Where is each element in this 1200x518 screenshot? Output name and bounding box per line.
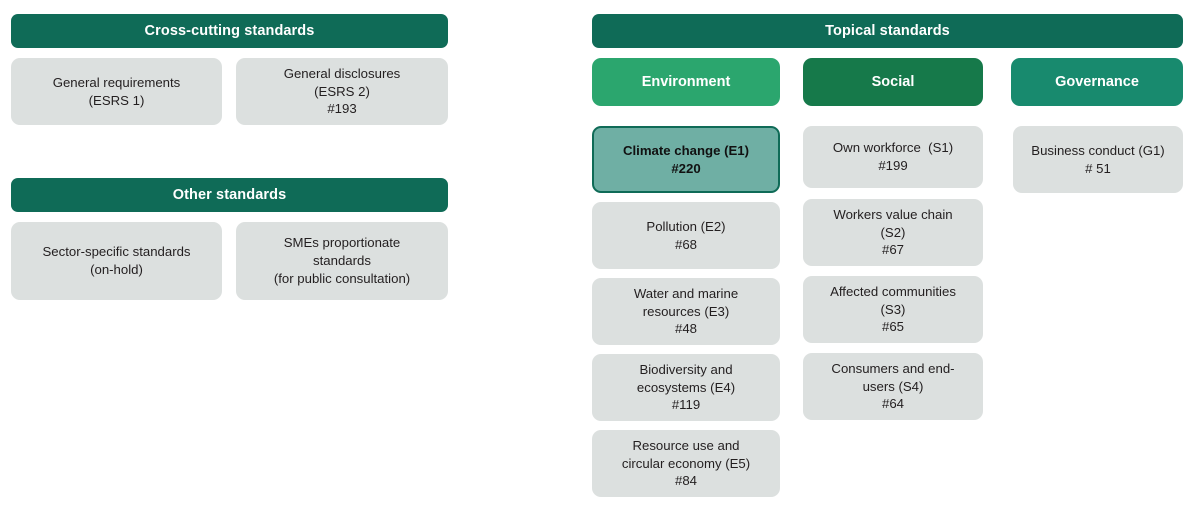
card-count: #68 (675, 236, 697, 254)
card-line: Business conduct (G1) (1031, 142, 1164, 160)
card-count: #193 (327, 100, 356, 118)
card-own-workforce-s1: Own workforce (S1) #199 (803, 126, 983, 188)
card-count: #67 (882, 241, 904, 259)
card-line: Resource use and (632, 437, 739, 455)
card-line: circular economy (E5) (622, 455, 750, 473)
card-line: General disclosures (284, 65, 401, 83)
card-line: (for public consultation) (274, 270, 410, 288)
card-line: General requirements (53, 74, 181, 92)
card-line: standards (313, 252, 371, 270)
other-standards-header: Other standards (11, 178, 448, 212)
card-line: Affected communities (830, 283, 956, 301)
card-line: Sector-specific standards (42, 243, 190, 261)
card-line: Workers value chain (833, 206, 952, 224)
card-line: (S3) (881, 301, 906, 319)
card-line: (S2) (881, 224, 906, 242)
card-line: (on-hold) (90, 261, 143, 279)
card-consumers-and-end-users-s4: Consumers and end- users (S4) #64 (803, 353, 983, 420)
card-biodiversity-and-ecosystems-e4: Biodiversity and ecosystems (E4) #119 (592, 354, 780, 421)
card-count: #119 (672, 396, 700, 414)
cross-cutting-standards-header: Cross-cutting standards (11, 14, 448, 48)
card-line: resources (E3) (643, 303, 729, 321)
card-line: Pollution (E2) (646, 218, 725, 236)
card-smes-proportionate-standards: SMEs proportionate standards (for public… (236, 222, 448, 300)
card-line: ecosystems (E4) (637, 379, 735, 397)
card-line: (ESRS 1) (89, 92, 145, 110)
category-header-governance: Governance (1011, 58, 1183, 106)
topical-standards-header: Topical standards (592, 14, 1183, 48)
card-sector-specific-standards: Sector-specific standards (on-hold) (11, 222, 222, 300)
card-line: users (S4) (863, 378, 924, 396)
card-count: #65 (882, 318, 904, 336)
card-water-and-marine-resources-e3: Water and marine resources (E3) #48 (592, 278, 780, 345)
esrs-standards-diagram: Cross-cutting standards General requirem… (0, 0, 1200, 518)
card-line: SMEs proportionate (284, 234, 401, 252)
card-affected-communities-s3: Affected communities (S3) #65 (803, 276, 983, 343)
card-count: #199 (878, 157, 907, 175)
card-pollution-e2: Pollution (E2) #68 (592, 202, 780, 269)
card-line: Consumers and end- (831, 360, 954, 378)
card-workers-value-chain-s2: Workers value chain (S2) #67 (803, 199, 983, 266)
card-general-disclosures: General disclosures (ESRS 2) #193 (236, 58, 448, 125)
card-line: Climate change (E1) (623, 142, 749, 160)
card-count: #48 (675, 320, 697, 338)
card-general-requirements: General requirements (ESRS 1) (11, 58, 222, 125)
card-line: Biodiversity and (639, 361, 732, 379)
category-header-social: Social (803, 58, 983, 106)
card-climate-change-e1: Climate change (E1) #220 (592, 126, 780, 193)
card-line: (ESRS 2) (314, 83, 370, 101)
card-count: #220 (671, 160, 700, 178)
card-count: #84 (675, 472, 697, 490)
card-count: # 51 (1085, 160, 1111, 178)
category-header-environment: Environment (592, 58, 780, 106)
card-line: Own workforce (S1) (833, 139, 953, 157)
card-resource-use-and-circular-economy-e5: Resource use and circular economy (E5) #… (592, 430, 780, 497)
card-line: Water and marine (634, 285, 738, 303)
card-business-conduct-g1: Business conduct (G1) # 51 (1013, 126, 1183, 193)
card-count: #64 (882, 395, 904, 413)
